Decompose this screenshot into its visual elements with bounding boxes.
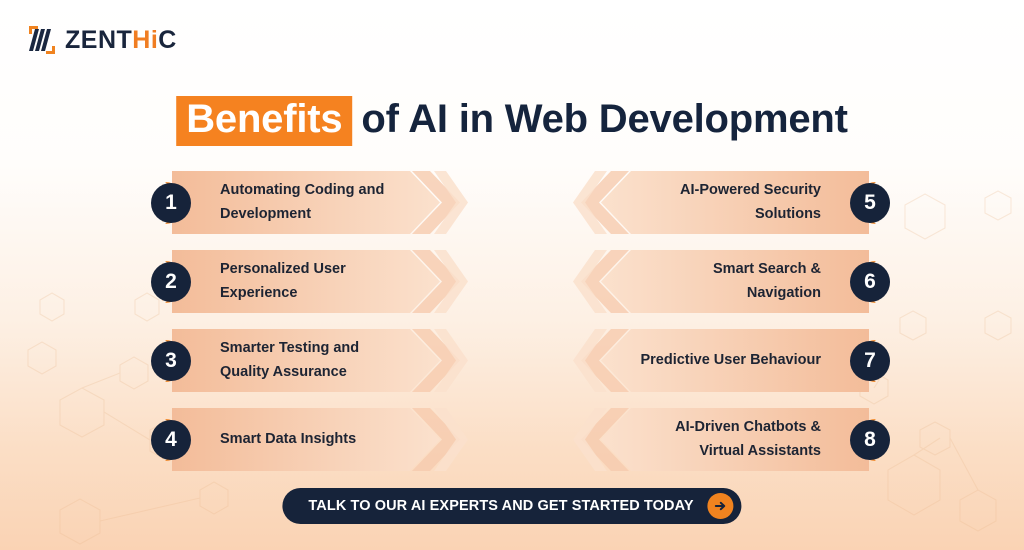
cta-button[interactable]: TALK TO OUR AI EXPERTS AND GET STARTED T… bbox=[282, 488, 741, 524]
benefit-label: Smarter Testing and Quality Assurance bbox=[220, 329, 404, 392]
benefit-number: 2 bbox=[151, 262, 191, 302]
benefit-number: 6 bbox=[850, 262, 890, 302]
benefit-item-2[interactable]: 2 Personalized User Experience bbox=[148, 250, 468, 313]
benefit-item-1[interactable]: 1 Automating Coding and Development bbox=[148, 171, 468, 234]
benefit-item-5[interactable]: 5 AI-Powered Security Solutions bbox=[573, 171, 893, 234]
title-rest: of AI in Web Development bbox=[361, 97, 847, 142]
benefit-number-badge: 3 bbox=[148, 338, 194, 384]
benefit-item-8[interactable]: 8 AI-Driven Chatbots & Virtual Assistant… bbox=[573, 408, 893, 471]
column-gap bbox=[468, 242, 573, 321]
benefits-grid: 1 Automating Coding and Development bbox=[148, 163, 893, 479]
benefit-number-badge: 1 bbox=[148, 180, 194, 226]
brand-name-main: ZENT bbox=[65, 26, 132, 54]
benefit-item-7[interactable]: 7 Predictive User Behaviour bbox=[573, 329, 893, 392]
benefit-number-badge: 5 bbox=[847, 180, 893, 226]
benefit-number-badge: 8 bbox=[847, 417, 893, 463]
benefit-label: Automating Coding and Development bbox=[220, 171, 404, 234]
brand-name-tail: C bbox=[158, 26, 177, 54]
benefit-number-badge: 7 bbox=[847, 338, 893, 384]
benefit-label: AI-Driven Chatbots & Virtual Assistants bbox=[637, 408, 821, 471]
brand-name: ZENTHiC bbox=[65, 28, 177, 53]
benefit-number: 5 bbox=[850, 183, 890, 223]
benefit-number: 3 bbox=[151, 341, 191, 381]
column-gap bbox=[468, 163, 573, 242]
benefit-label: AI-Powered Security Solutions bbox=[637, 171, 821, 234]
benefit-item-4[interactable]: 4 Smart Data Insights bbox=[148, 408, 468, 471]
benefit-number-badge: 4 bbox=[148, 417, 194, 463]
benefit-number: 4 bbox=[151, 420, 191, 460]
benefit-item-3[interactable]: 3 Smarter Testing and Quality Assurance bbox=[148, 329, 468, 392]
benefit-number: 8 bbox=[850, 420, 890, 460]
cta-label: TALK TO OUR AI EXPERTS AND GET STARTED T… bbox=[308, 498, 693, 514]
zentic-slash-mark-icon bbox=[26, 24, 58, 56]
brand-name-accent-h: H bbox=[132, 26, 151, 54]
brand-logo[interactable]: ZENTHiC bbox=[26, 24, 177, 56]
benefit-number: 1 bbox=[151, 183, 191, 223]
column-gap bbox=[468, 321, 573, 400]
infographic-poster: ZENTHiC Benefits of AI in Web Developmen… bbox=[0, 0, 1024, 550]
benefit-label: Smart Search & Navigation bbox=[637, 250, 821, 313]
page-title: Benefits of AI in Web Development bbox=[176, 96, 848, 146]
benefit-number-badge: 2 bbox=[148, 259, 194, 305]
column-gap bbox=[468, 400, 573, 479]
benefit-item-6[interactable]: 6 Smart Search & Navigation bbox=[573, 250, 893, 313]
title-highlight: Benefits bbox=[176, 96, 352, 146]
benefit-label: Predictive User Behaviour bbox=[637, 329, 821, 392]
benefit-number: 7 bbox=[850, 341, 890, 381]
arrow-right-circle-icon bbox=[708, 493, 734, 519]
benefit-label: Personalized User Experience bbox=[220, 250, 404, 313]
benefit-label: Smart Data Insights bbox=[220, 408, 404, 471]
benefit-number-badge: 6 bbox=[847, 259, 893, 305]
